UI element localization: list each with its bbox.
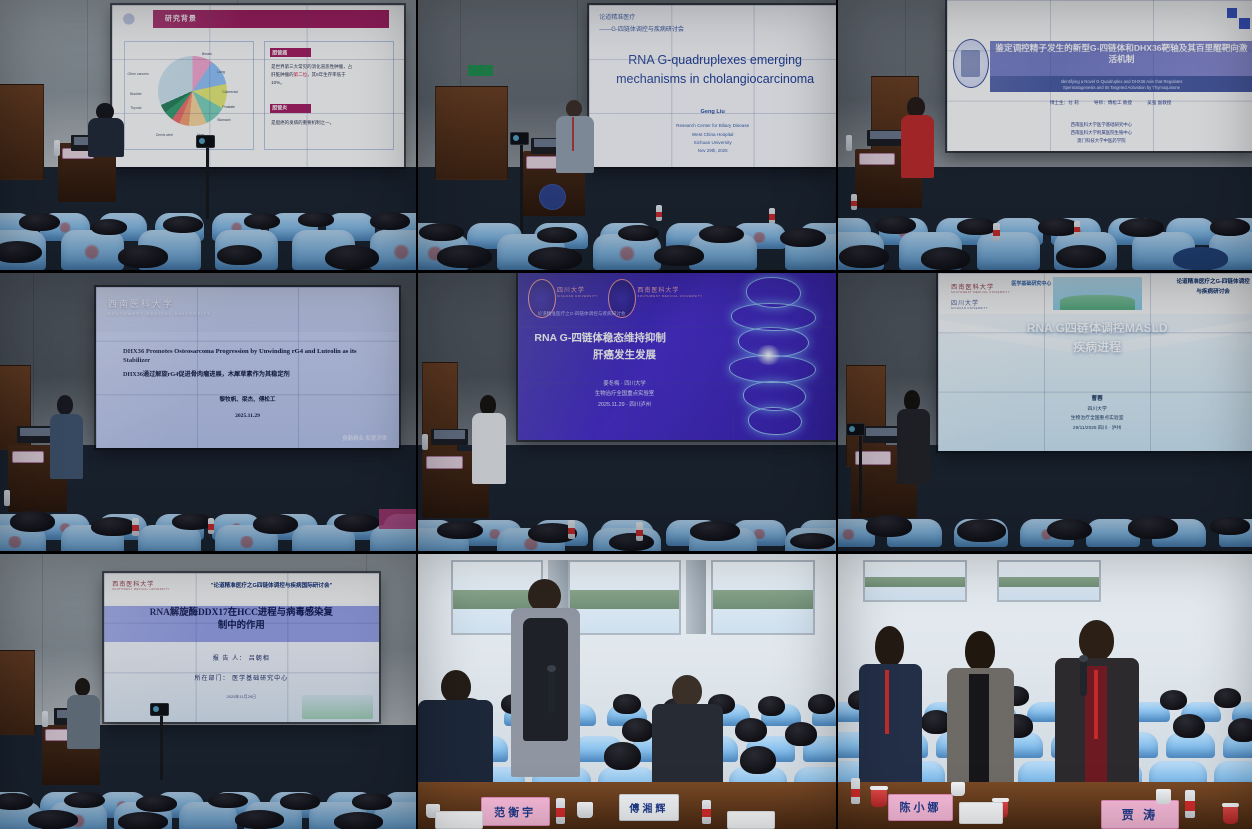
speaker-name: 曹蓉 — [1092, 396, 1103, 402]
name-placard: 范衡宇 — [481, 797, 550, 827]
pie-label-other: Other cancers — [128, 72, 149, 77]
name-placard: 陈小娜 — [888, 794, 953, 821]
chip1-text-a: 是世界第三大常见的消化道恶性肿瘤，占 — [271, 64, 352, 69]
slide-title-en: DHX36 Promotes Osteosarcoma Progression … — [123, 347, 381, 366]
slide-organizations: 西南医科大学医学基础研究中心 西南医科大学附属医院生殖中心 澳门科技大学中医药学… — [978, 121, 1225, 145]
speaker — [87, 103, 124, 157]
photo-panel-4: 西南医科大学 SOUTHWEST MEDICAL UNIVERSITY DHX3… — [0, 273, 416, 551]
chip-1-paragraph: 是世界第三大常见的消化道恶性肿瘤，占 肝脏肿瘤的第二位，其5年生存率低于 10%… — [271, 63, 386, 87]
university-en: SOUTHWEST MEDICAL UNIVERSITY — [112, 588, 169, 591]
laptop — [431, 429, 469, 446]
university-2: 四川大学 SICHUAN UNIVERSITY — [951, 298, 988, 310]
slide-date: Nov 29th, 2025 — [614, 148, 811, 153]
chip1-highlight: 第二位 — [294, 72, 308, 77]
title-line2: 制中的作用 — [218, 621, 265, 631]
org-3: 澳门科技大学中医药学院 — [978, 137, 1225, 145]
chip-cholangiocarcinoma: 胆管癌 — [270, 48, 311, 57]
slide-author: Geng Liu — [614, 109, 811, 115]
projector-screen: 四川大学 SICHUAN UNIVERSITY 西南医科大学 SOUTHWEST… — [518, 273, 836, 440]
slide-title-en: Identifying a Novel G-Quadruplex and DHX… — [990, 76, 1252, 93]
laptop — [863, 426, 901, 443]
slide-header: 论道精准医疗 ——G-四链体调控与疾病研讨会 — [599, 13, 684, 36]
chip-2-label: 胆管炎 — [272, 105, 287, 112]
university-logo-icon — [121, 11, 147, 27]
chip1-text-d: 10%。 — [271, 80, 285, 85]
university-2-en: SICHUAN UNIVERSITY — [951, 307, 988, 310]
affiliation: 四川大学 — [970, 405, 1224, 414]
title-line1: RNA G-四链体稳态维持抑制 — [534, 330, 714, 347]
university-1-en: SOUTHWEST MEDICAL UNIVERSITY — [951, 291, 1010, 294]
standing-questioner — [510, 579, 581, 777]
text-frame: 胆管癌 是世界第三大常见的消化道恶性肿瘤，占 肝脏肿瘤的第二位，其5年生存率低于… — [264, 41, 394, 150]
presenter-label: 报 告 人： 吕朝相 — [131, 653, 351, 662]
title-line1: RNA解旋酶DDX17在HCC进程与病毒感染复 — [150, 608, 333, 618]
student-label: 博士生：付 莉 — [1050, 100, 1079, 106]
slide-people: 博士生：付 莉 导师：傅松工 教授 吴强 副教授 — [984, 100, 1238, 106]
slide-authors: 黎牧帆、梁杰、傅松工 — [126, 395, 369, 403]
slide-title-band: 鉴定调控精子发生的新型G-四链体和DHX36靶轴及其百里醌靶向激活机制 — [990, 41, 1252, 76]
g-quadruplex-graphic — [711, 274, 833, 437]
lab-name: 生物治疗全国重点实验室 — [970, 414, 1224, 423]
window — [997, 560, 1101, 603]
chip-2-paragraph: 是胆癌的发病的重要机制之一。 — [271, 119, 386, 127]
chart-frame: Breast Lung Colorectal Prostate Stomach … — [124, 41, 254, 150]
slide-subheader: 论道精准医疗之G-四链体调控与疾病研讨会 — [538, 311, 626, 317]
chip1-text-b: 肝脏肿瘤的 — [271, 72, 294, 77]
pie-label-colorectal: Colorectal — [222, 90, 237, 95]
window — [568, 560, 681, 636]
slide-byline: 曹蓉 四川大学 生物治疗全国重点实验室 29/11/2025 四川 · 泸州 — [970, 394, 1224, 433]
coffee-cup — [1223, 806, 1238, 824]
title-en-line2: Spermatogenesis and Its Targeted Activat… — [990, 85, 1252, 92]
photo-panel-1: 研究背景 Breast Lung Colorectal Prostate Sto… — [0, 0, 416, 270]
door — [0, 650, 35, 735]
pie-label-stomach: Stomach — [217, 118, 230, 123]
photo-panel-8: 范衡宇 傅湘辉 — [418, 554, 836, 829]
audience-seating — [418, 468, 836, 551]
chip1-text-c: ，其5年生存率低于 — [307, 72, 346, 77]
window — [863, 560, 967, 603]
lab-name: 生物治疗全国重点实验室 — [534, 389, 714, 400]
slide-title-cn: DHX36通过解旋rG4促进骨肉瘤进展，木犀草素作为其稳定剂 — [123, 369, 381, 378]
audience-seating — [0, 736, 416, 829]
audience-seating — [418, 167, 836, 270]
photo-panel-9: 陈小娜 贾 涛 — [838, 554, 1252, 829]
seated-panelist — [859, 626, 922, 786]
exit-sign-icon — [468, 65, 493, 76]
audience-seating — [0, 157, 416, 270]
photo-panel-2: 论道精准医疗 ——G-四链体调控与疾病研讨会 RNA G-quadruplexe… — [418, 0, 836, 270]
university-name: 西南医科大学 SOUTHWEST MEDICAL UNIVERSITY — [112, 579, 169, 591]
slide-title: RNA G四链体调控MASLD 疾病进程 — [951, 319, 1243, 356]
advisor-label: 导师：傅松工 教授 — [1094, 100, 1132, 106]
photo-panel-6: 西南医科大学 SOUTHWEST MEDICAL UNIVERSITY 四川大学… — [838, 273, 1252, 551]
projector-screen: 论道精准医疗 ——G-四链体调控与疾病研讨会 RNA G-quadruplexe… — [589, 5, 836, 167]
pie-label-breast: Breast — [202, 52, 212, 57]
coffee-cup — [871, 789, 887, 807]
seated-panelist — [947, 631, 1014, 785]
co-advisor-label: 吴强 副教授 — [1147, 100, 1171, 106]
university-1-en: SICHUAN UNIVERSITY — [557, 294, 598, 298]
conference-title: 论道精准医疗之G-四链体调控与疾病研讨会 — [1175, 278, 1251, 297]
university-2-en: SOUTHWEST MEDICAL UNIVERSITY — [637, 294, 702, 298]
org-2: 西南医科大学附属医院生殖中心 — [978, 129, 1225, 137]
audience-seating — [838, 157, 1252, 270]
audience-seating — [0, 456, 416, 551]
pie-label-thyroid: Thyroid — [130, 106, 141, 111]
slide-title: RNA G-四链体稳态维持抑制 肝癌发生发展 — [534, 330, 714, 365]
title-line2: 肝癌发生发展 — [534, 347, 714, 364]
slide-date: 2025.11.29 — [126, 413, 369, 419]
pie-chart — [158, 56, 227, 127]
door — [435, 86, 508, 180]
photo-panel-7: 西南医科大学 SOUTHWEST MEDICAL UNIVERSITY "论道精… — [0, 554, 416, 829]
projector-screen: 鉴定调控精子发生的新型G-四链体和DHX36靶轴及其百里醌靶向激活机制 Iden… — [947, 0, 1252, 151]
university-seal-icon — [953, 39, 989, 88]
slide-title-band: RNA解旋酶DDX17在HCC进程与病毒感染复 制中的作用 — [104, 606, 379, 642]
slide-affiliation: Research Center for Biliary Disease West… — [614, 122, 811, 147]
laptop — [867, 130, 905, 146]
laptop — [17, 426, 54, 443]
slide-byline: 姜冬梅 · 四川大学 生物治疗全国重点实验室 2025.11.29 · 四川泸州 — [534, 379, 714, 411]
slide-title: RNA解旋酶DDX17在HCC进程与病毒感染复 制中的作用 — [107, 607, 376, 633]
slide-title-cn: 鉴定调控精子发生的新型G-四链体和DHX36靶轴及其百里醌靶向激活机制 — [995, 43, 1247, 66]
university-name: 西南医科大学 SOUTHWEST MEDICAL UNIVERSITY — [108, 297, 212, 316]
name-placard: 傅湘辉 — [619, 794, 680, 821]
pie-label-prostate: Prostate — [222, 105, 235, 110]
center-banner: 医学基础研究中心 — [1011, 280, 1052, 287]
slide-header-line2: ——G-四链体调控与疾病研讨会 — [599, 25, 684, 36]
projector-screen: 西南医科大学 SOUTHWEST MEDICAL UNIVERSITY 四川大学… — [938, 273, 1252, 451]
affiliation-2: West China Hospital — [614, 131, 811, 139]
university-1: 西南医科大学 SOUTHWEST MEDICAL UNIVERSITY — [951, 282, 1010, 294]
projector-screen: 西南医科大学 SOUTHWEST MEDICAL UNIVERSITY "论道精… — [104, 573, 379, 722]
affiliation-1: Research Center for Biliary Disease — [614, 122, 811, 130]
seated-attendee — [652, 675, 723, 791]
org-1: 西南医科大学医学基础研究中心 — [978, 121, 1225, 129]
slide-header-bar: 研究背景 — [153, 10, 389, 28]
title-line1: RNA G四链体调控MASLD — [951, 319, 1243, 338]
photo-panel-5: 四川大学 SICHUAN UNIVERSITY 西南医科大学 SOUTHWEST… — [418, 273, 836, 551]
pie-label-bladder: Bladder — [130, 92, 142, 97]
chip-cholangitis: 胆管炎 — [270, 104, 311, 113]
university-1-cn: 西南医科大学 — [951, 284, 994, 291]
conference-title: "论道精准医疗之G四链体调控与疾病国际研讨会" — [170, 581, 373, 589]
slide-title: RNA G-quadruplexes emerging mechanisms i… — [604, 51, 826, 90]
slide-slogan: 身勤精业·和爱济世 — [342, 434, 387, 442]
slide-header-line1: 论道精准医疗 — [599, 13, 684, 24]
speaker — [556, 100, 594, 173]
chip-1-label: 胆管癌 — [272, 49, 287, 56]
window — [711, 560, 815, 636]
university-2: 西南医科大学 SOUTHWEST MEDICAL UNIVERSITY — [637, 285, 702, 298]
department-label: 所在部门： 医学基础研究中心 — [131, 673, 351, 682]
pie-label-cervix: Cervix uteri — [156, 133, 173, 138]
projector-screen: 研究背景 Breast Lung Colorectal Prostate Sto… — [112, 5, 403, 167]
audience-seating — [838, 462, 1252, 551]
university-en: SOUTHWEST MEDICAL UNIVERSITY — [108, 312, 212, 316]
university-1: 四川大学 SICHUAN UNIVERSITY — [557, 285, 598, 298]
slide-header-text: 研究背景 — [165, 16, 197, 23]
projector-screen: 西南医科大学 SOUTHWEST MEDICAL UNIVERSITY DHX3… — [96, 287, 400, 448]
campus-banner-image — [1053, 277, 1142, 311]
campus-image — [302, 695, 373, 719]
title-en-line1: Identifying a Novel G-Quadruplex and DHX… — [990, 79, 1252, 86]
pie-label-lung: Lung — [217, 70, 225, 75]
date-place: 2025.11.29 · 四川泸州 — [534, 400, 714, 411]
speaking-panelist — [1055, 620, 1139, 785]
seated-attendee — [418, 670, 493, 791]
wall-banner — [379, 509, 416, 528]
title-line2: 疾病进程 — [951, 338, 1243, 357]
date-place: 29/11/2025 四川 · 泸州 — [970, 424, 1224, 433]
university-cn: 西南医科大学 — [108, 299, 174, 309]
photo-collage: 研究背景 Breast Lung Colorectal Prostate Sto… — [0, 0, 1252, 823]
photo-panel-3: 鉴定调控精子发生的新型G-四链体和DHX36靶轴及其百里醌靶向激活机制 Iden… — [838, 0, 1252, 270]
speaker-name: 姜冬梅 · 四川大学 — [534, 379, 714, 390]
affiliation-3: Sichuan University — [614, 139, 811, 147]
